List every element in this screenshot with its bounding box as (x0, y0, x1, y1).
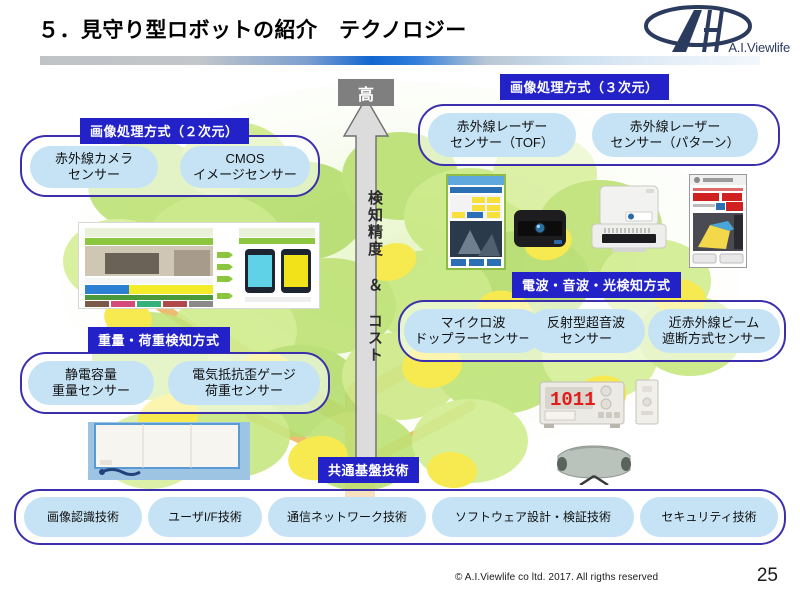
group-title-weight-load: 重量・荷重検知方式 (88, 327, 230, 353)
monitoring-ui-screenshot-collage (78, 222, 320, 309)
pill-user-interface[interactable]: ユーザI/F技術 (148, 497, 262, 537)
group-title-image-3d: 画像処理方式（３次元） (500, 74, 669, 100)
group-title-image-2d: 画像処理方式（２次元） (80, 118, 249, 144)
pill-image-recognition[interactable]: 画像認識技術 (24, 497, 142, 537)
pill-reflective-ultrasonic[interactable]: 反射型超音波 センサー (527, 309, 645, 353)
depth-sensor-tablet-photo (446, 174, 506, 270)
footer-page-number: 25 (757, 565, 778, 587)
infrared-beam-sensor-photo (550, 440, 638, 485)
alert-tablet-screen-photo (689, 174, 747, 268)
pill-ir-laser-tof[interactable]: 赤外線レーザー センサー（TOF） (428, 113, 576, 157)
brand-logo: A.I.Viewlife (620, 4, 792, 56)
group-title-wave-detection: 電波・音波・光検知方式 (512, 272, 681, 298)
pill-software-design-verification[interactable]: ソフトウェア設計・検証技術 (432, 497, 634, 537)
axis-high-badge: 高 (338, 79, 394, 106)
axis-label: 検知精度 ＆ コスト (352, 190, 382, 364)
header-divider (40, 56, 760, 65)
pill-microwave-doppler[interactable]: マイクロ波 ドップラーセンサー (404, 309, 542, 353)
black-camera-module-photo (512, 207, 568, 250)
led-display-value: 1011 (550, 389, 596, 411)
wireless-pendant-sensor-photo (634, 378, 660, 426)
pill-cmos-image-sensor[interactable]: CMOS イメージセンサー (180, 146, 310, 188)
pill-strain-gauge-load-sensor[interactable]: 電気抵抗歪ゲージ 荷重センサー (168, 361, 320, 405)
led-display-receiver-photo: 1011 (538, 378, 626, 430)
logo-wordmark: A.I.Viewlife (728, 40, 790, 55)
pill-nir-beam-interruption[interactable]: 近赤外線ビーム 遮断方式センサー (648, 309, 780, 353)
slide-canvas: ５．見守り型ロボットの紹介 テクノロジー A.I.Viewlife 高 検知精度… (0, 0, 800, 600)
group-title-common-base: 共通基盤技術 (318, 457, 419, 483)
pill-capacitive-weight-sensor[interactable]: 静電容量 重量センサー (28, 361, 154, 405)
footer-copyright: © A.I.Viewlife co ltd. 2017. All rigths … (455, 572, 658, 583)
pill-security-technology[interactable]: セキュリティ技術 (640, 497, 778, 537)
page-title: ５．見守り型ロボットの紹介 テクノロジー (38, 14, 467, 44)
pill-ir-laser-pattern[interactable]: 赤外線レーザー センサー（パターン） (592, 113, 758, 157)
bed-pressure-mat-photo (88, 422, 250, 480)
white-projector-sensor-photo (588, 182, 670, 254)
pill-infrared-camera-sensor[interactable]: 赤外線カメラ センサー (30, 146, 158, 188)
pill-communication-network[interactable]: 通信ネットワーク技術 (268, 497, 426, 537)
